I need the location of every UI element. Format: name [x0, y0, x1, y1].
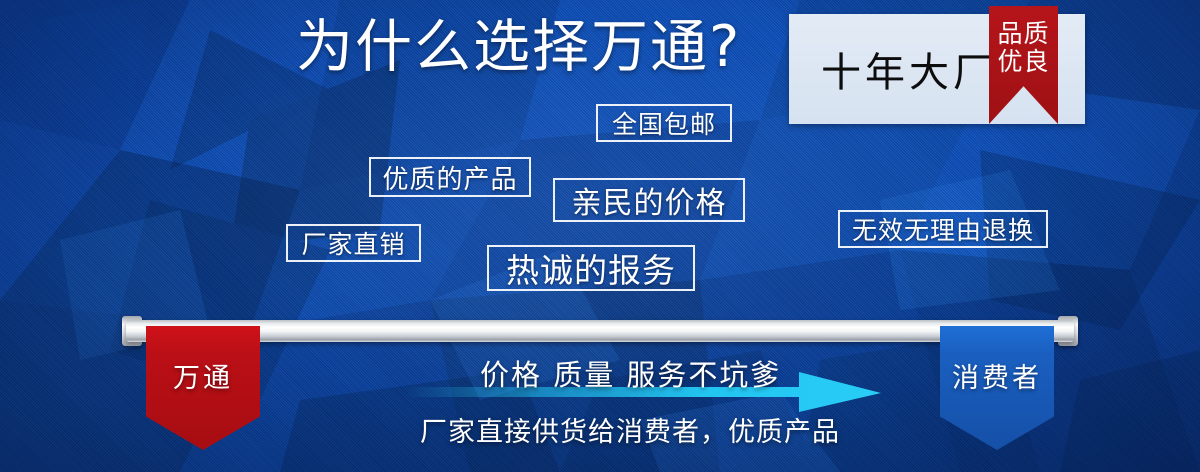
feature-tag: 优质的产品	[369, 157, 531, 197]
page-title: 为什么选择万通?	[296, 16, 741, 78]
quality-badge: 十年大厂 品质 优良	[789, 14, 1085, 124]
badge-label: 十年大厂	[821, 40, 997, 98]
feature-tag: 热诚的报务	[487, 245, 695, 291]
feature-tag: 亲民的价格	[553, 178, 745, 222]
feature-tag: 全国包邮	[596, 104, 732, 142]
flow-copy-secondary: 厂家直接供货给消费者，优质产品	[420, 410, 840, 449]
promotional-banner: 为什么选择万通? 十年大厂 品质 优良 全国包邮优质的产品亲民的价格厂家直销无效…	[0, 0, 1200, 472]
flow-copy-primary: 价格 质量 服务不坑爹	[480, 352, 781, 394]
ribbon-line-2: 优良	[989, 48, 1058, 76]
metal-rod-graphic	[126, 320, 1074, 342]
ribbon-icon: 品质 优良	[989, 6, 1058, 124]
feature-tag: 无效无理由退换	[838, 210, 1048, 248]
ribbon-label: 品质 优良	[989, 20, 1058, 76]
feature-tag: 厂家直销	[286, 224, 421, 262]
ribbon-line-1: 品质	[989, 20, 1058, 48]
